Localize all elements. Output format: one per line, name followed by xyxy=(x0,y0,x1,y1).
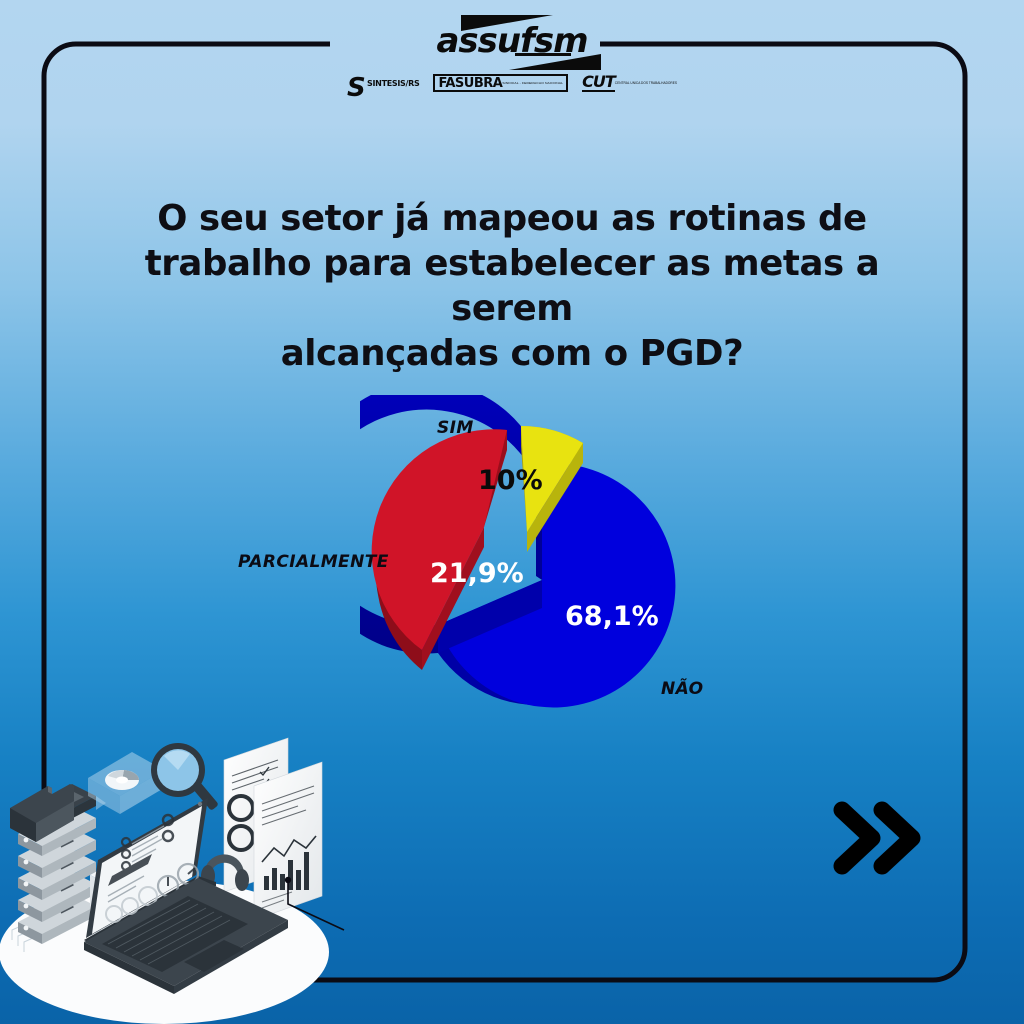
fasubra-label: FASUBRA xyxy=(438,77,502,90)
assufsm-logo: assufsm xyxy=(417,14,607,68)
pie-chart-svg xyxy=(360,395,740,755)
pie-chart: 10% 21,9% 68,1% xyxy=(360,395,740,755)
double-chevron-right-icon[interactable] xyxy=(828,790,924,886)
title-line-3: alcançadas com o PGD? xyxy=(96,331,928,376)
cut-label: CUT xyxy=(582,74,615,92)
fasubra-logo: FASUBRA SINDICAL - FEDERACAO NACIONAL xyxy=(433,74,568,92)
cut-logo: CUT CENTRAL UNICA DOS TRABALHADORES xyxy=(582,74,677,92)
poster-title: O seu setor já mapeou as rotinas de trab… xyxy=(96,196,928,376)
magnifying-glass-icon xyxy=(151,743,219,811)
sintesis-label: SINTESIS/RS xyxy=(367,79,419,88)
logo-underline-shape xyxy=(515,53,571,56)
fasubra-subtitle: SINDICAL - FEDERACAO NACIONAL xyxy=(502,82,563,85)
pie-value-label-parcialmente: 21,9% xyxy=(430,558,524,589)
sintesis-swoosh-icon: S xyxy=(347,75,365,101)
brand-header: assufsm S SINTESIS/RS FASUBRA SINDICAL -… xyxy=(0,14,1024,92)
title-line-1: O seu setor já mapeou as rotinas de xyxy=(96,196,928,241)
isometric-data-analytics-illustration xyxy=(0,690,352,1024)
pie-value-label-nao: 68,1% xyxy=(565,601,659,632)
pie-category-label-parcialmente: PARCIALMENTE xyxy=(238,552,389,572)
title-line-2: trabalho para estabelecer as metas a ser… xyxy=(96,241,928,331)
affiliate-logos: S SINTESIS/RS FASUBRA SINDICAL - FEDERAC… xyxy=(0,74,1024,92)
cut-subtitle: CENTRAL UNICA DOS TRABALHADORES xyxy=(615,82,677,85)
sintesis-logo: S SINTESIS/RS xyxy=(347,79,419,88)
pie-category-label-sim: SIM xyxy=(437,418,474,438)
poster-canvas: assufsm S SINTESIS/RS FASUBRA SINDICAL -… xyxy=(0,0,1024,1024)
pie-value-label-sim: 10% xyxy=(478,465,543,496)
pie-category-label-nao: NÃO xyxy=(661,679,704,699)
